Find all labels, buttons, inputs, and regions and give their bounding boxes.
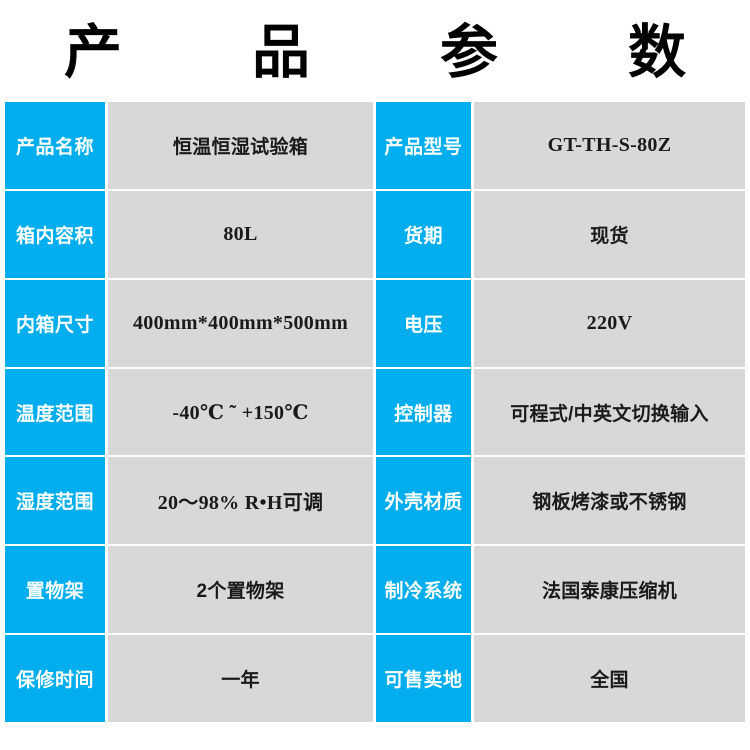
spec-value-humidity-range: 20～98% R•H可调 <box>108 457 376 544</box>
spec-value-lead-time: 现货 <box>474 191 745 278</box>
spec-value-refrigeration-system: 法国泰康压缩机 <box>474 546 745 633</box>
spec-label-shell-material: 外壳材质 <box>376 457 474 544</box>
table-row: 内箱尺寸 400mm*400mm*500mm 电压 220V <box>5 280 745 369</box>
table-row: 保修时间 一年 可售卖地 全国 <box>5 635 745 722</box>
spec-value-voltage: 220V <box>474 280 745 367</box>
table-row: 产品名称 恒温恒湿试验箱 产品型号 GT-TH-S-80Z <box>5 102 745 191</box>
spec-value-shell-material: 钢板烤漆或不锈钢 <box>474 457 745 544</box>
spec-label-inner-volume: 箱内容积 <box>5 191 108 278</box>
spec-label-voltage: 电压 <box>376 280 474 367</box>
spec-value-shelves: 2个置物架 <box>108 546 376 633</box>
spec-label-inner-dimensions: 内箱尺寸 <box>5 280 108 367</box>
spec-label-refrigeration-system: 制冷系统 <box>376 546 474 633</box>
spec-value-inner-dimensions: 400mm*400mm*500mm <box>108 280 376 367</box>
spec-label-warranty-period: 保修时间 <box>5 635 108 722</box>
spec-label-shelves: 置物架 <box>5 546 108 633</box>
table-row: 温度范围 -40℃ ˜ +150℃ 控制器 可程式/中英文切换输入 <box>5 369 745 458</box>
spec-value-inner-volume: 80L <box>108 191 376 278</box>
page-title-container: 产 品 参 数 <box>0 0 750 102</box>
spec-value-controller: 可程式/中英文切换输入 <box>474 369 745 456</box>
spec-label-lead-time: 货期 <box>376 191 474 278</box>
spec-value-product-name: 恒温恒湿试验箱 <box>108 102 376 189</box>
spec-label-humidity-range: 湿度范围 <box>5 457 108 544</box>
product-spec-page: 产 品 参 数 产品名称 恒温恒湿试验箱 产品型号 GT-TH-S-80Z 箱内… <box>0 0 750 750</box>
specification-table: 产品名称 恒温恒湿试验箱 产品型号 GT-TH-S-80Z 箱内容积 80L 货… <box>5 102 745 722</box>
page-title: 产 品 参 数 <box>28 24 722 82</box>
spec-label-product-model: 产品型号 <box>376 102 474 189</box>
table-row: 箱内容积 80L 货期 现货 <box>5 191 745 280</box>
spec-label-sales-region: 可售卖地 <box>376 635 474 722</box>
spec-label-temperature-range: 温度范围 <box>5 369 108 456</box>
spec-label-controller: 控制器 <box>376 369 474 456</box>
spec-value-sales-region: 全国 <box>474 635 745 722</box>
table-row: 湿度范围 20～98% R•H可调 外壳材质 钢板烤漆或不锈钢 <box>5 457 745 546</box>
table-row: 置物架 2个置物架 制冷系统 法国泰康压缩机 <box>5 546 745 635</box>
spec-label-product-name: 产品名称 <box>5 102 108 189</box>
spec-value-product-model: GT-TH-S-80Z <box>474 102 745 189</box>
spec-value-warranty-period: 一年 <box>108 635 376 722</box>
spec-value-temperature-range: -40℃ ˜ +150℃ <box>108 369 376 456</box>
